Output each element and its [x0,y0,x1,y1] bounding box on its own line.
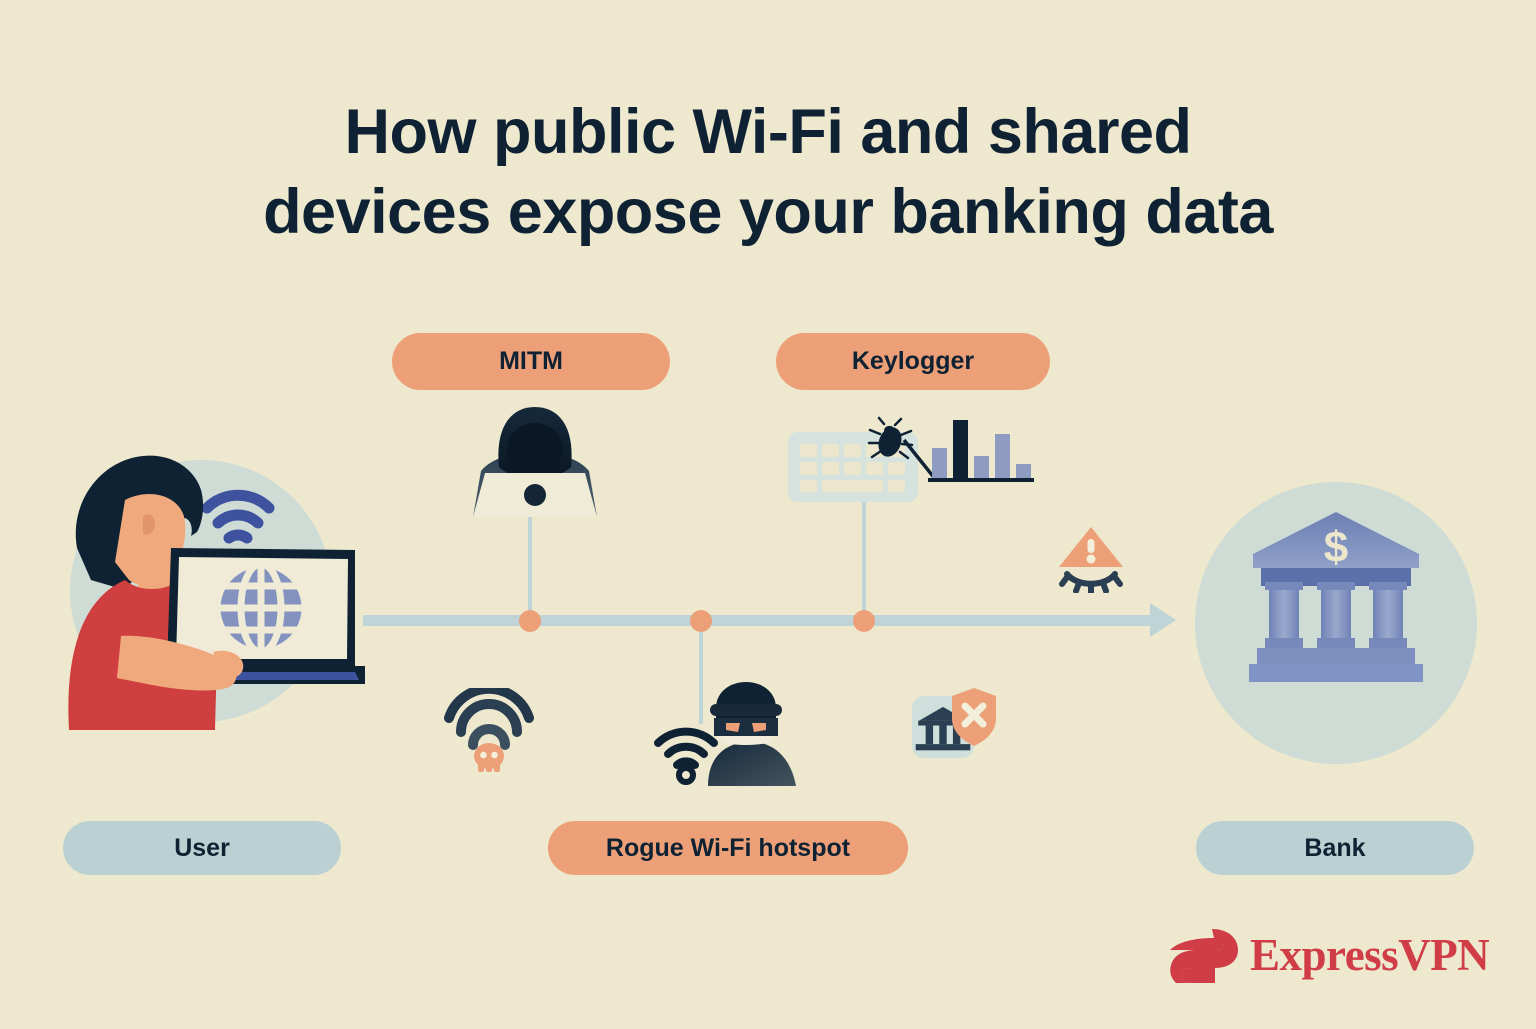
label-keylogger[interactable]: Keylogger [776,333,1050,390]
label-bank-text: Bank [1304,834,1365,863]
connector-keylogger [862,497,866,619]
label-rogue-wifi-text: Rogue Wi-Fi hotspot [606,834,850,863]
data-flow-arrowhead [1150,603,1176,637]
closed-eye-icon [1062,574,1120,593]
infographic-canvas: How public Wi-Fi and shared devices expo… [0,0,1536,1029]
person-at-laptop-icon [55,440,365,730]
label-mitm[interactable]: MITM [392,333,670,390]
label-mitm-text: MITM [499,347,563,376]
warning-eye-group [1055,525,1127,593]
wifi-skull-icon [443,688,535,773]
title-line-1: How public Wi-Fi and shared [345,97,1192,167]
bar-chart-icon [928,420,1034,482]
bank-blocked-shield-icon [910,678,998,766]
data-flow-axis [363,615,1156,626]
bank-building-icon: $ [1195,482,1477,764]
svg-text:$: $ [1324,523,1348,572]
label-rogue-wifi[interactable]: Rogue Wi-Fi hotspot [548,821,908,875]
expressvpn-e-mark [1168,927,1242,989]
masked-thief-icon [650,678,805,793]
expressvpn-logo[interactable]: ExpressVPN [1168,927,1480,991]
hooded-hacker-icon [455,405,615,530]
expressvpn-wordmark: ExpressVPN [1250,929,1489,981]
label-keylogger-text: Keylogger [852,347,974,376]
node-dot-rogue-wifi [690,610,712,632]
keylogger-icon [786,412,1034,512]
label-bank[interactable]: Bank [1196,821,1474,875]
label-user-text: User [174,834,230,863]
title-line-2: devices expose your banking data [0,172,1536,252]
node-dot-keylogger [853,610,875,632]
page-title: How public Wi-Fi and shared devices expo… [0,92,1536,252]
label-user[interactable]: User [63,821,341,875]
warning-triangle-icon [1059,527,1123,567]
node-dot-mitm [519,610,541,632]
